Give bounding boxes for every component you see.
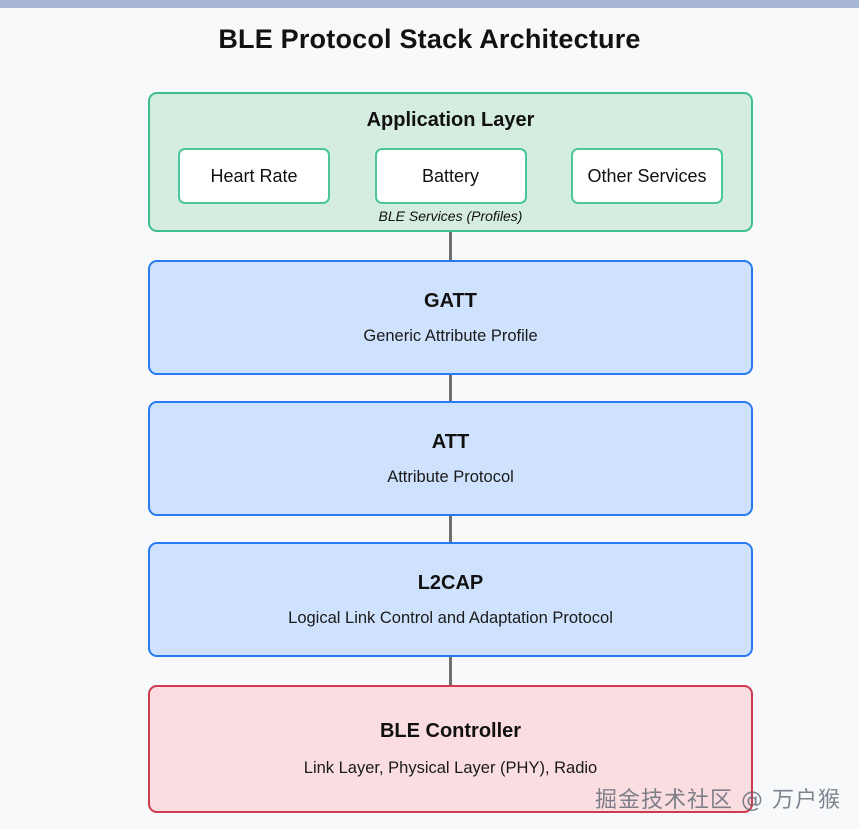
connector-l2cap-to-controller bbox=[449, 657, 452, 685]
top-decorative-strip bbox=[0, 0, 859, 8]
service-box-battery[interactable]: Battery bbox=[375, 148, 527, 204]
layer-block-l2cap: L2CAP Logical Link Control and Adaptatio… bbox=[148, 542, 753, 657]
ble-services-caption: BLE Services (Profiles) bbox=[150, 208, 751, 224]
layer-block-gatt: GATT Generic Attribute Profile bbox=[148, 260, 753, 375]
layer-subtitle-gatt: Generic Attribute Profile bbox=[363, 327, 537, 347]
layer-subtitle-controller: Link Layer, Physical Layer (PHY), Radio bbox=[304, 759, 597, 779]
service-label-other-services: Other Services bbox=[587, 166, 706, 187]
layer-title-att: ATT bbox=[432, 430, 469, 454]
layer-title-l2cap: L2CAP bbox=[418, 571, 484, 595]
service-box-other-services[interactable]: Other Services bbox=[571, 148, 723, 204]
layer-block-att: ATT Attribute Protocol bbox=[148, 401, 753, 516]
ble-services-row: Heart Rate Battery Other Services bbox=[150, 148, 751, 204]
layer-subtitle-l2cap: Logical Link Control and Adaptation Prot… bbox=[288, 609, 613, 629]
layer-subtitle-att: Attribute Protocol bbox=[387, 468, 514, 488]
layer-block-application: Application Layer Heart Rate Battery Oth… bbox=[148, 92, 753, 232]
connector-gatt-to-att bbox=[449, 375, 452, 401]
layer-block-controller: BLE Controller Link Layer, Physical Laye… bbox=[148, 685, 753, 813]
protocol-stack-diagram: Application Layer Heart Rate Battery Oth… bbox=[148, 92, 753, 813]
layer-title-application: Application Layer bbox=[150, 108, 751, 132]
connector-application-to-gatt bbox=[449, 232, 452, 260]
connector-att-to-l2cap bbox=[449, 516, 452, 542]
service-box-heart-rate[interactable]: Heart Rate bbox=[178, 148, 330, 204]
layer-title-gatt: GATT bbox=[424, 289, 477, 313]
service-label-battery: Battery bbox=[422, 166, 479, 187]
service-label-heart-rate: Heart Rate bbox=[210, 166, 297, 187]
layer-title-controller: BLE Controller bbox=[380, 719, 521, 743]
page-title: BLE Protocol Stack Architecture bbox=[0, 24, 859, 55]
